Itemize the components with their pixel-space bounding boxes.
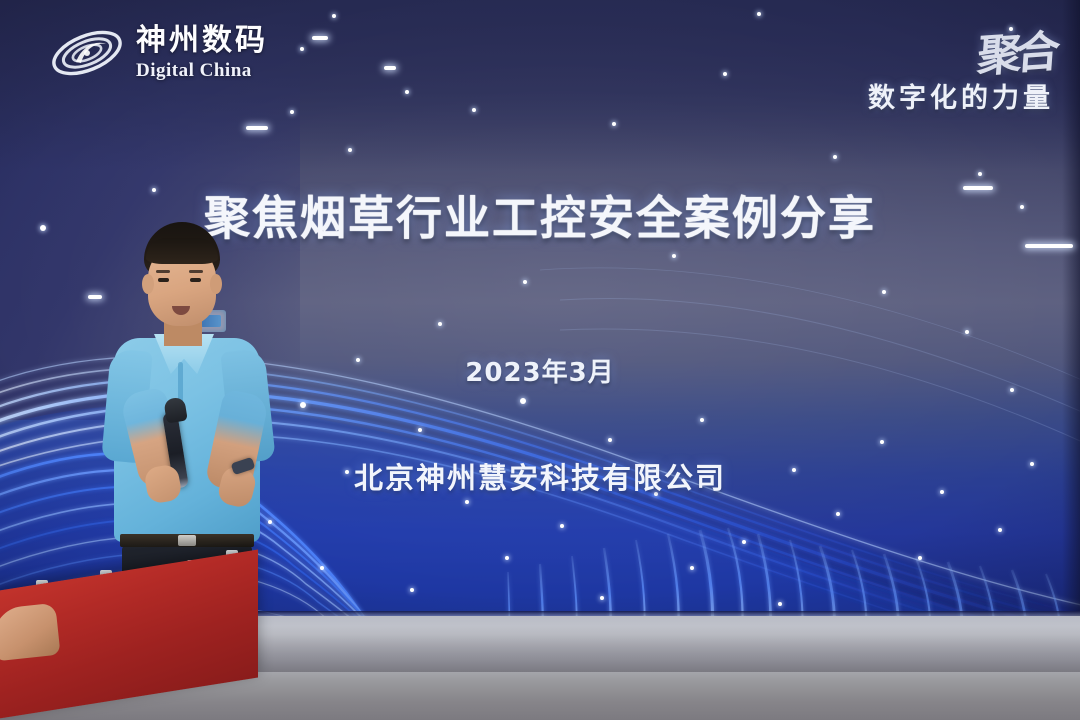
speaker-left-ear [142, 274, 154, 294]
speaker-right-eye [190, 278, 201, 282]
speaker-right-brow [189, 270, 203, 273]
foreground-attendee-arm [0, 603, 61, 661]
speaker-left-brow [156, 270, 170, 273]
speaker-right-ear [210, 274, 222, 294]
digital-china-wordmark: 神州数码 Digital China [136, 26, 268, 80]
screen-right-edge-shadow [1062, 0, 1080, 620]
event-seal-text: 聚合 [975, 15, 1056, 84]
digital-china-logo: 神州数码 Digital China [48, 22, 268, 84]
light-streak [384, 66, 396, 70]
conference-stage-photo: 聚焦烟草行业工控安全案例分享 2023年3月 北京神州慧安科技有限公司 神州数码… [0, 0, 1080, 720]
speaker-left-eye [158, 278, 169, 282]
event-theme-logo: 聚合 数字化的力量 [868, 18, 1054, 115]
speaker-belt-buckle [178, 535, 196, 546]
event-tagline: 数字化的力量 [868, 76, 1054, 115]
brand-chinese-name: 神州数码 [136, 26, 268, 56]
light-streak [312, 36, 328, 40]
digital-china-swirl-icon [48, 22, 126, 84]
speaker-hair-fringe [146, 238, 218, 264]
brand-english-name: Digital China [136, 61, 268, 80]
light-streak [246, 126, 268, 130]
